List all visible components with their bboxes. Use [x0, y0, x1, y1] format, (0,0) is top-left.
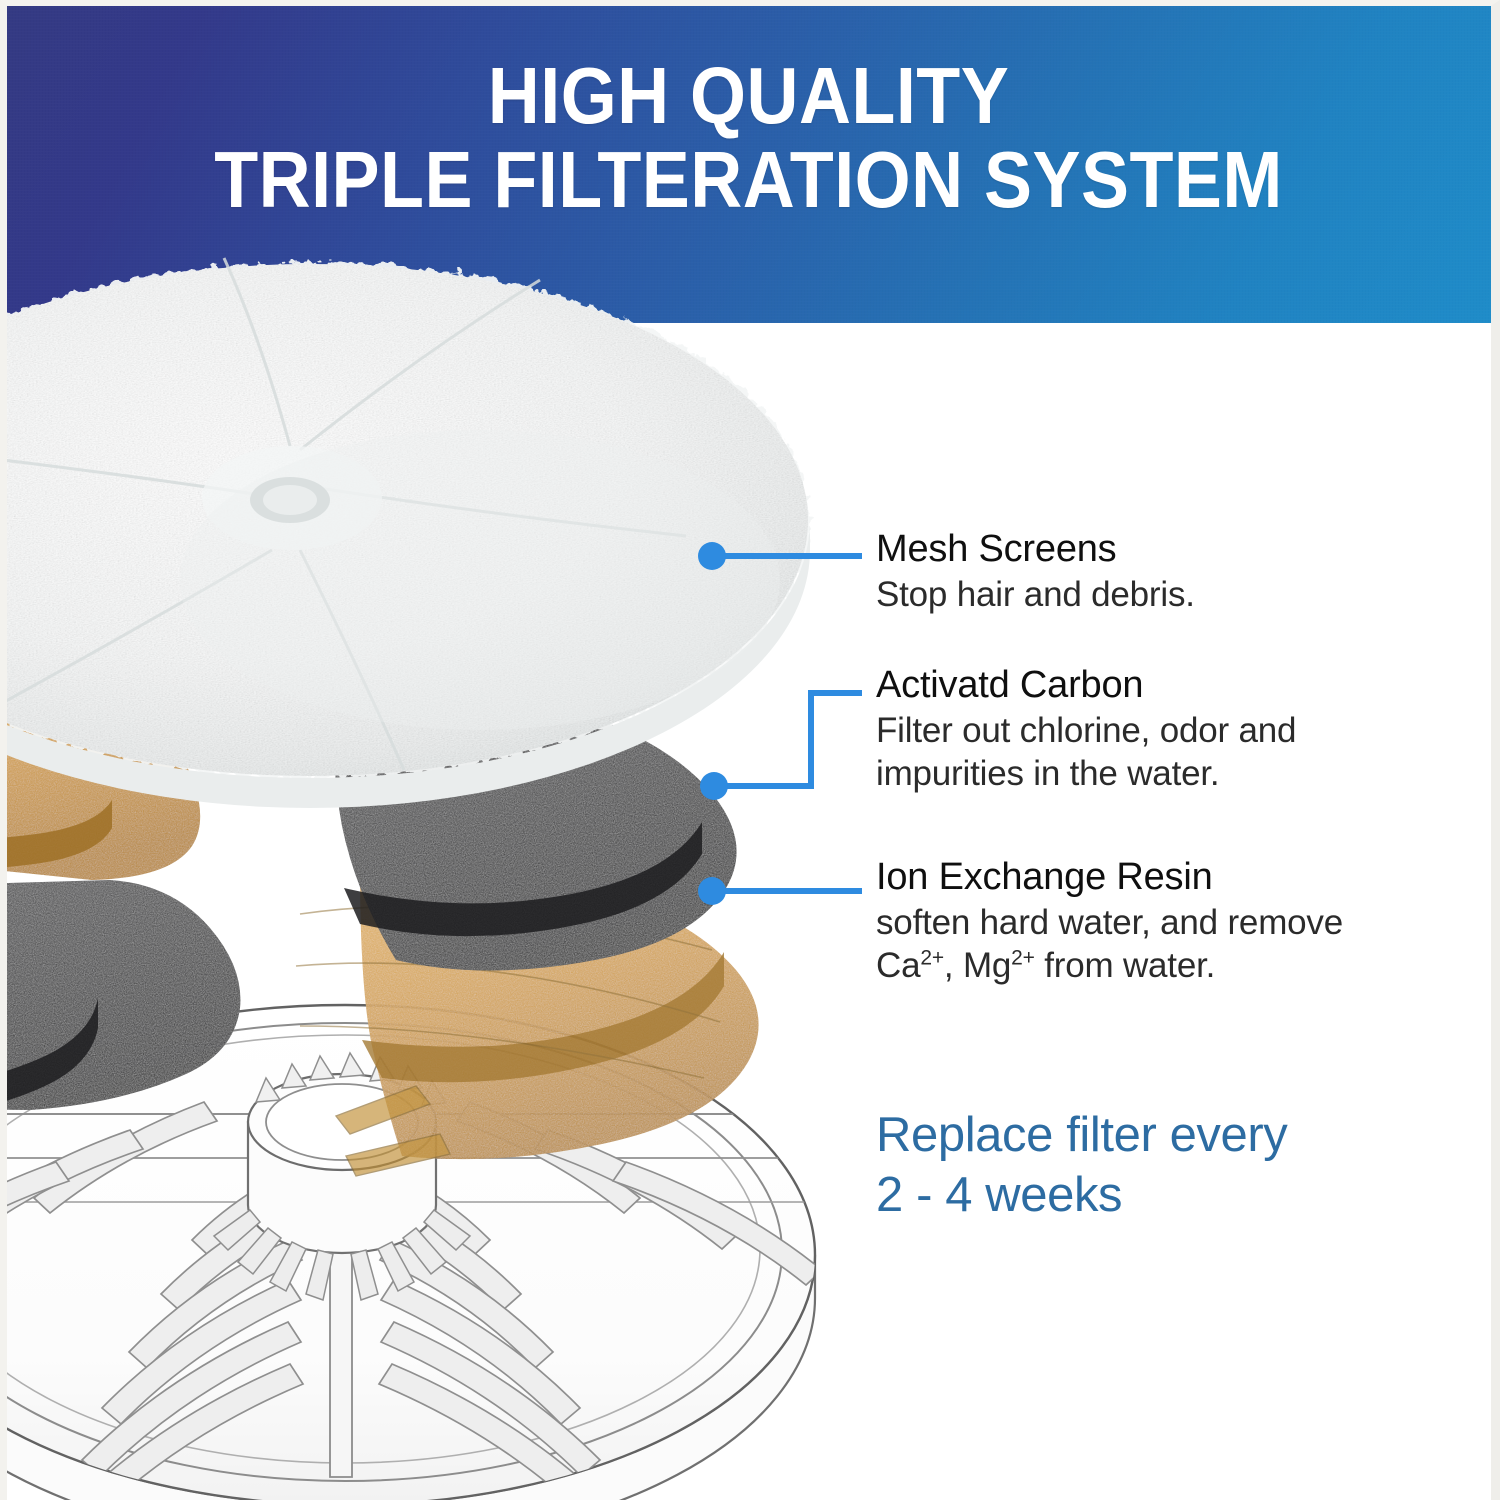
replace-note-line-1: Replace filter every — [876, 1105, 1287, 1165]
ion-text: , Mg — [944, 946, 1011, 985]
ion-text: from water. — [1035, 946, 1215, 985]
callout-desc-line: soften hard water, and remove — [876, 901, 1343, 944]
ion-charge-superscript: 2+ — [1011, 946, 1035, 969]
callout-desc-line: Stop hair and debris. — [876, 575, 1195, 614]
callout-activated-carbon: Activatd Carbon Filter out chlorine, odo… — [876, 663, 1296, 795]
title-line-1: HIGH QUALITY — [80, 57, 1417, 135]
callout-desc-line: Filter out chlorine, odor and — [876, 709, 1296, 752]
infographic-page: HIGH QUALITY TRIPLE FILTERATION SYSTEM — [0, 0, 1500, 1500]
callout-desc-ion-exchange-resin: soften hard water, and remove Ca2+, Mg2+… — [876, 901, 1343, 987]
callout-desc-activated-carbon: Filter out chlorine, odor and impurities… — [876, 709, 1296, 795]
callout-desc-line: impurities in the water. — [876, 752, 1296, 795]
replace-filter-note: Replace filter every 2 - 4 weeks — [876, 1105, 1287, 1225]
callout-title-mesh-screens: Mesh Screens — [876, 527, 1195, 571]
ion-charge-superscript: 2+ — [920, 946, 944, 969]
callout-title-ion-exchange-resin: Ion Exchange Resin — [876, 855, 1343, 899]
page-title: HIGH QUALITY TRIPLE FILTERATION SYSTEM — [6, 57, 1491, 219]
mesh-screen-disc — [0, 258, 810, 808]
ion-text: Ca — [876, 946, 920, 985]
replace-note-line-2: 2 - 4 weeks — [876, 1165, 1287, 1225]
product-exploded-diagram — [0, 250, 880, 1500]
callout-ion-exchange-resin: Ion Exchange Resin soften hard water, an… — [876, 855, 1343, 987]
callout-desc-mesh-screens: Stop hair and debris. — [876, 573, 1195, 616]
callout-title-activated-carbon: Activatd Carbon — [876, 663, 1296, 707]
callout-desc-line-ions: Ca2+, Mg2+ from water. — [876, 944, 1343, 987]
title-line-2: TRIPLE FILTERATION SYSTEM — [80, 141, 1417, 219]
callout-mesh-screens: Mesh Screens Stop hair and debris. — [876, 527, 1195, 616]
